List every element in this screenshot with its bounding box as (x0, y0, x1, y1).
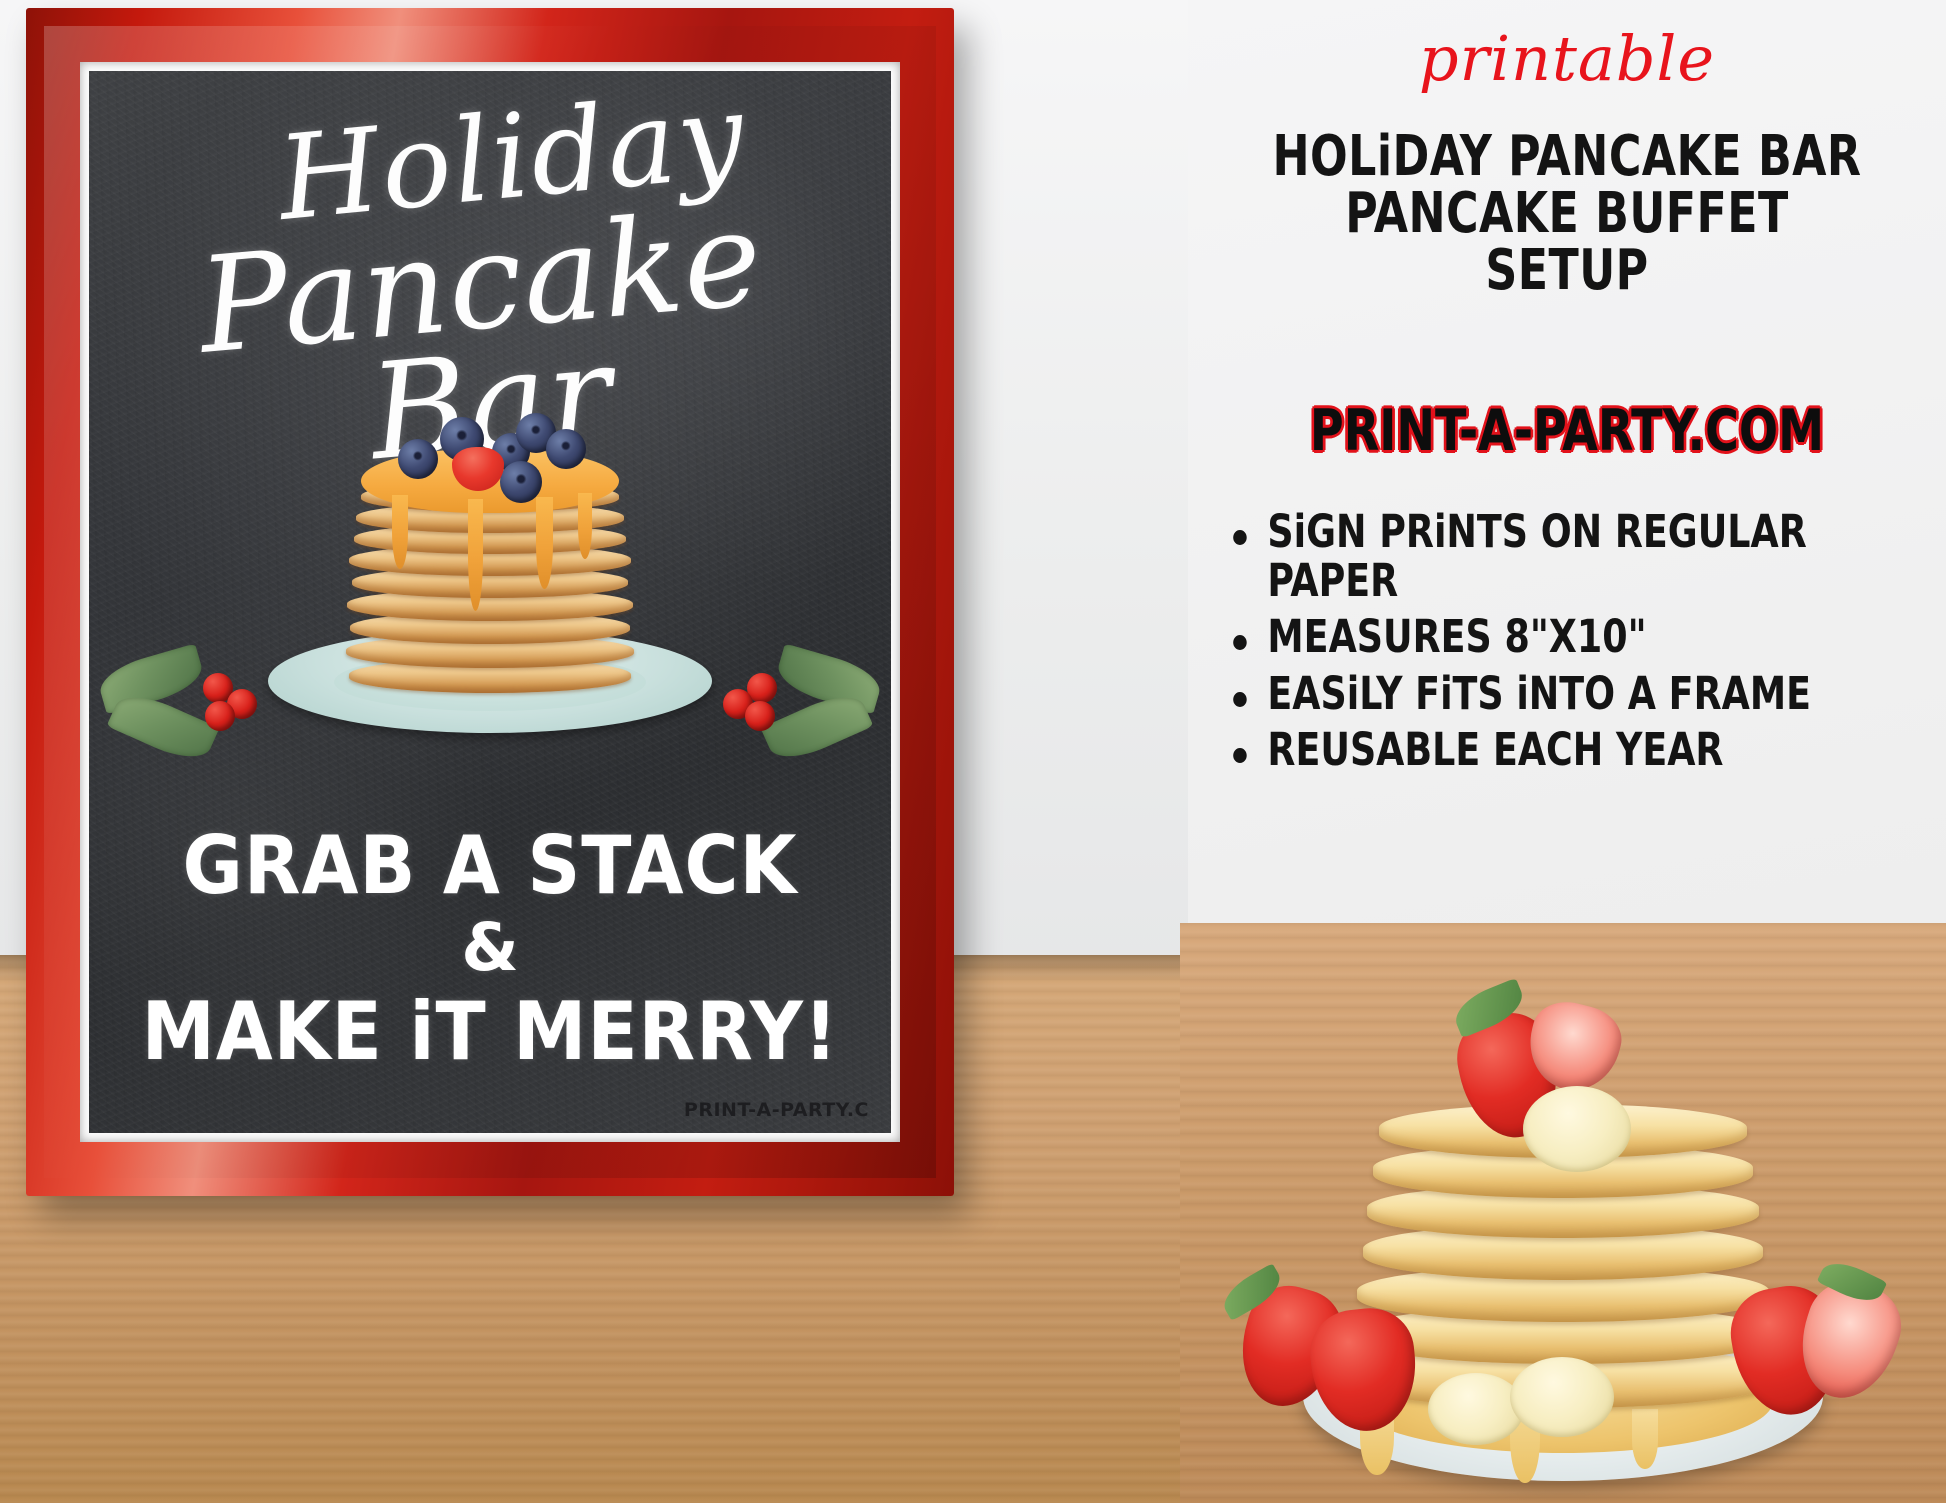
red-picture-frame: Holiday Pancake Bar (26, 8, 954, 1196)
syrup-drip (468, 499, 483, 611)
holly-berry (205, 701, 235, 731)
holly-sprig-left (115, 631, 295, 781)
chalkboard-sign: Holiday Pancake Bar (89, 71, 891, 1133)
syrup-drip (536, 497, 553, 589)
printable-badge: printable (1188, 22, 1946, 95)
holly-berry (745, 701, 775, 731)
pancake-stack-shapes (340, 443, 640, 693)
pancake-stack-illustration (260, 411, 720, 741)
list-item: REUSABLE EACH YEAR (1226, 726, 1860, 775)
photo-banana-slice (1523, 1086, 1631, 1172)
sign-bottom-text: GRAB A STACK & MAKE iT MERRY! (89, 824, 891, 1073)
sign-bottom-line-2: MAKE iT MERRY! (121, 990, 859, 1073)
syrup-drip (392, 495, 408, 569)
syrup-drip (1632, 1409, 1658, 1469)
sign-bottom-line-1: GRAB A STACK (121, 824, 859, 907)
holly-sprig-right (685, 631, 865, 781)
sign-watermark: PRINT-A-PARTY.C (684, 1099, 869, 1121)
feature-list: SiGN PRiNTS ON REGULAR PAPER MEASURES 8"… (1226, 508, 1930, 783)
website-url[interactable]: PRINT-A-PARTY.COM (1226, 398, 1908, 464)
blueberry-icon (546, 429, 586, 469)
syrup-drip (578, 493, 592, 559)
product-title-line-2: PANCAKE BUFFET (1241, 185, 1894, 242)
blueberry-icon (500, 461, 542, 503)
blueberry-icon (398, 439, 438, 479)
photo-banana-slice (1428, 1373, 1524, 1445)
product-title-line-3: SETUP (1241, 242, 1894, 299)
poster-canvas: Holiday Pancake Bar (0, 0, 1946, 1503)
pancake-stack-photo (1180, 803, 1946, 1503)
list-item: MEASURES 8"X10" (1226, 613, 1860, 662)
product-title: HOLiDAY PANCAKE BAR PANCAKE BUFFET SETUP (1241, 128, 1894, 299)
sign-bottom-ampersand: & (89, 907, 891, 990)
product-title-line-1: HOLiDAY PANCAKE BAR (1241, 128, 1894, 185)
frame-mat: Holiday Pancake Bar (80, 62, 900, 1142)
list-item: SiGN PRiNTS ON REGULAR PAPER (1226, 508, 1860, 605)
list-item: EASiLY FiTS iNTO A FRAME (1226, 670, 1860, 719)
info-panel: printable HOLiDAY PANCAKE BAR PANCAKE BU… (1188, 0, 1946, 1503)
photo-banana-slice (1510, 1357, 1614, 1437)
